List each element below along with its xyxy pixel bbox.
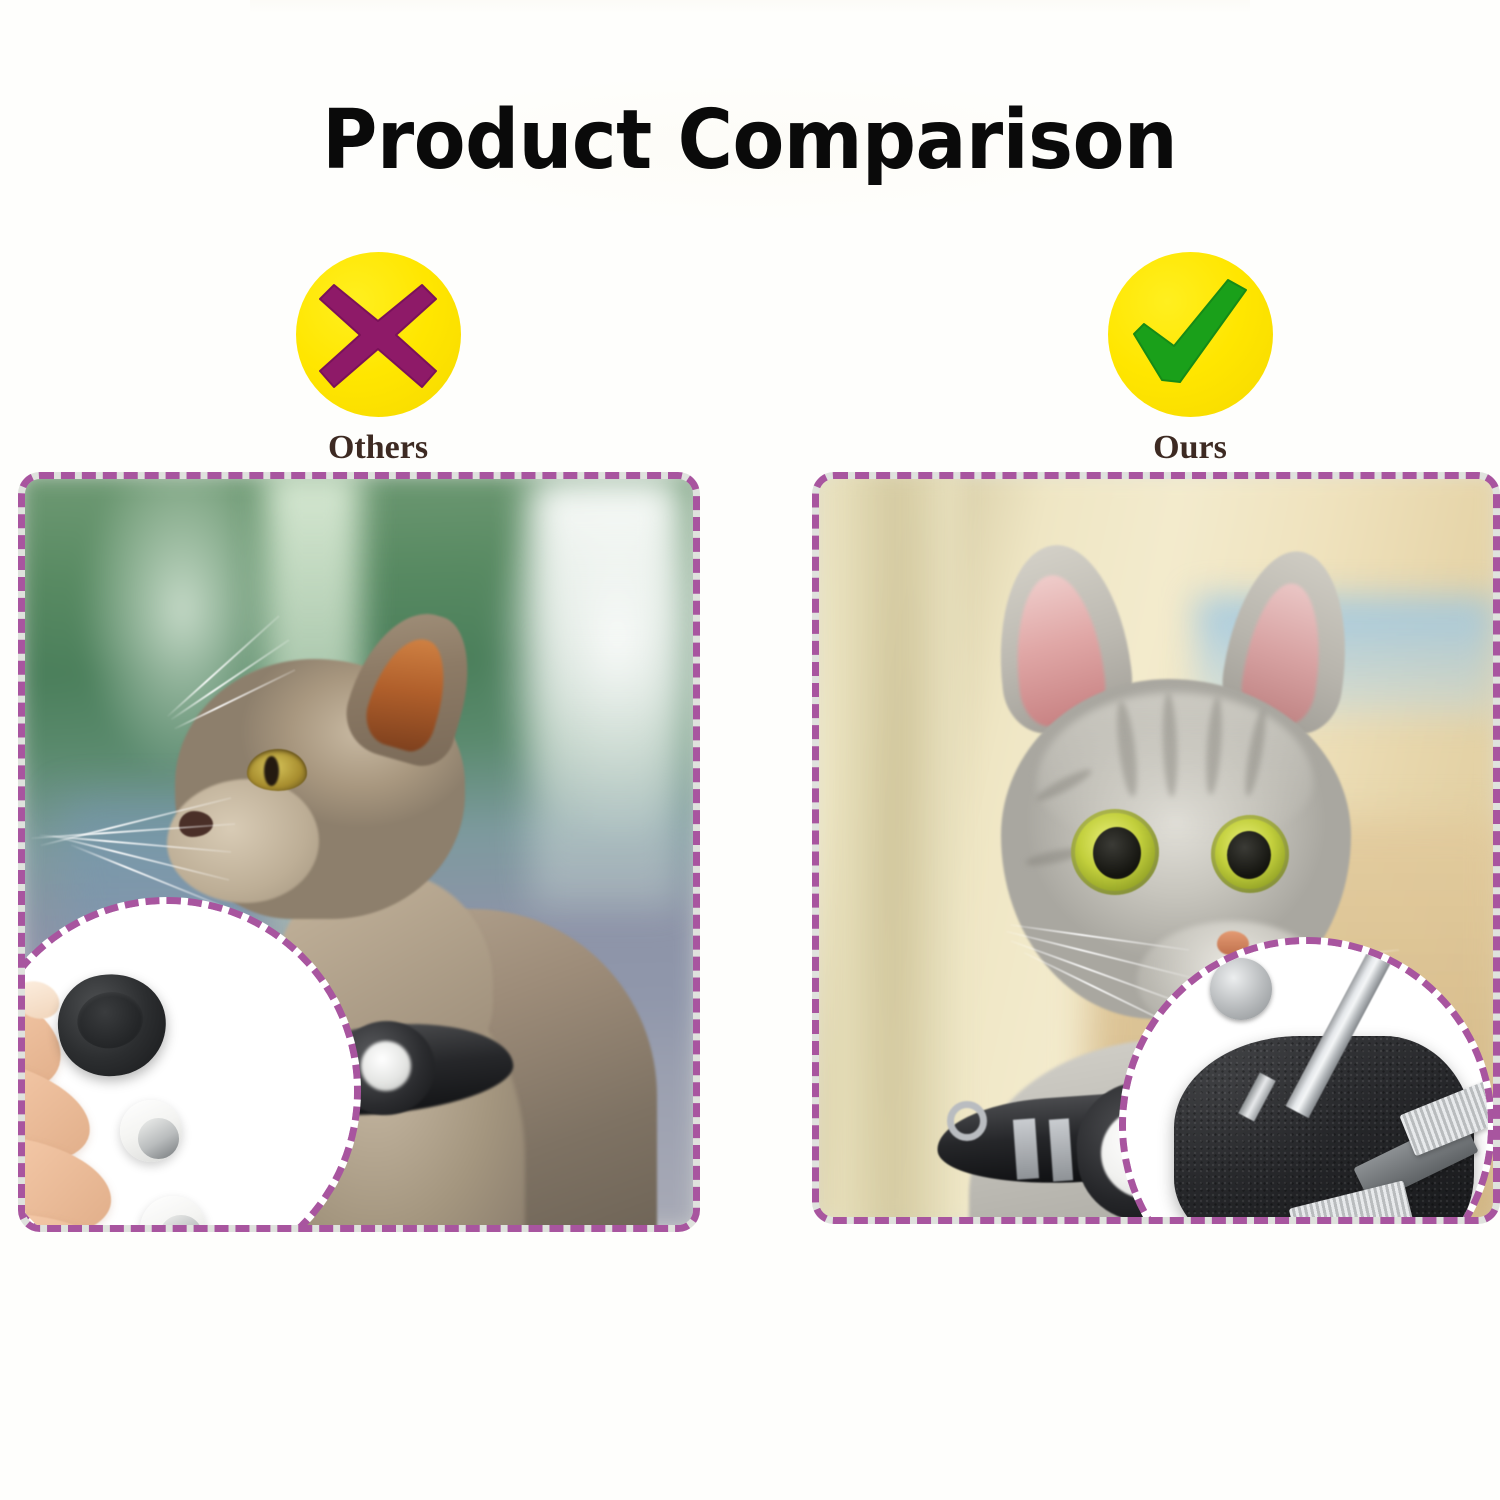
- badge-group-others: Others: [228, 252, 528, 467]
- badge-label-others: Others: [328, 429, 428, 467]
- airtag-falling-1: [120, 1100, 182, 1162]
- check-icon: [1128, 276, 1252, 394]
- cross-badge: [296, 252, 461, 417]
- comparison-panel-ours: Mechanical Lock Cannot be detached: [812, 472, 1500, 1500]
- check-badge: [1108, 252, 1273, 417]
- badge-label-ours: Ours: [1153, 429, 1227, 467]
- photo-frame-ours: [812, 472, 1500, 1224]
- photo-frame-others: [18, 472, 700, 1232]
- metal-screw: [1210, 958, 1272, 1020]
- product-comparison-infographic: Product Comparison Others Ours: [0, 0, 1500, 1500]
- top-edge-ghost-banner: [250, 0, 1250, 14]
- page-title: Product Comparison: [322, 93, 1177, 188]
- badge-row: Others Ours: [0, 252, 1500, 467]
- cross-icon: [318, 275, 438, 395]
- title-banner: Product Comparison: [0, 60, 1500, 220]
- comparison-panel-others: Easy to detach: [18, 472, 700, 1500]
- badge-group-ours: Ours: [1040, 252, 1340, 467]
